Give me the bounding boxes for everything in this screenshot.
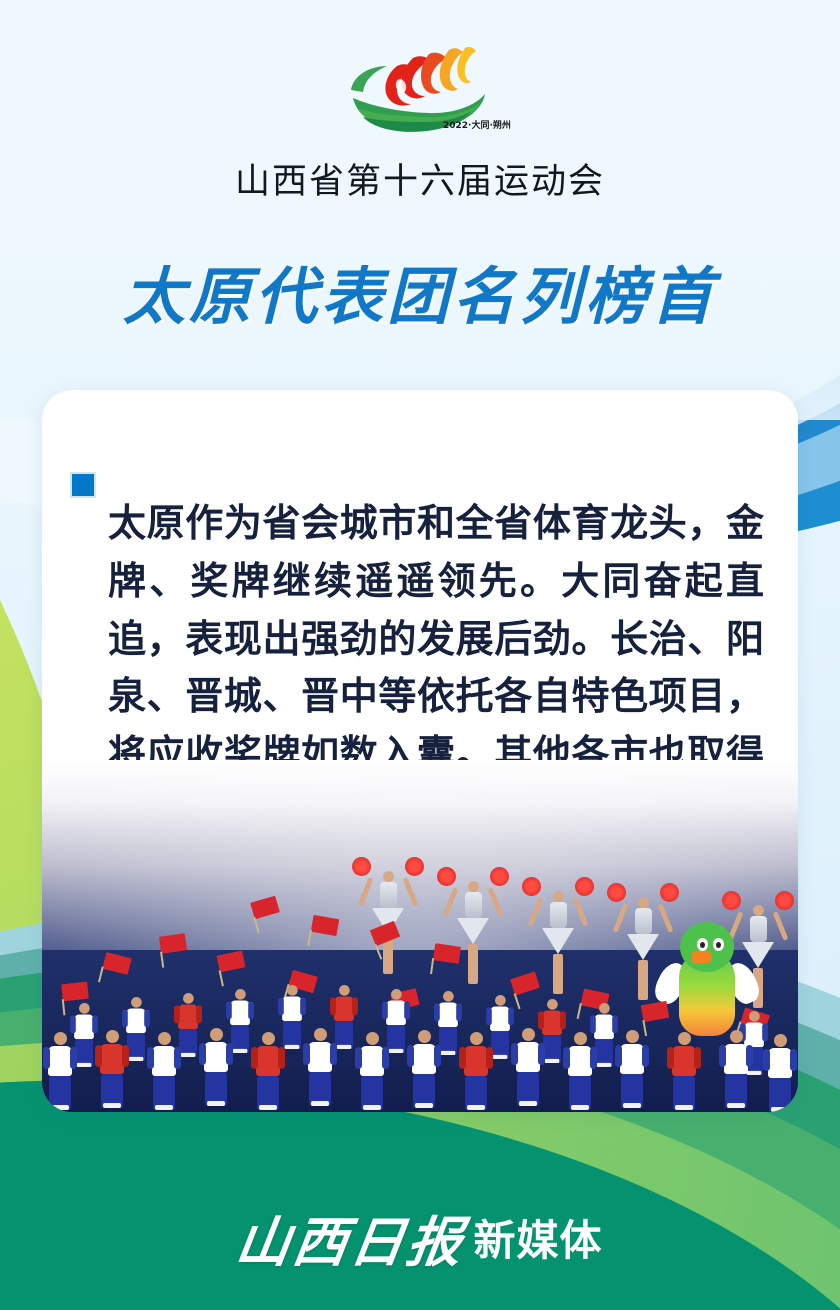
athlete-figure	[438, 991, 458, 1055]
athlete-figure	[620, 1030, 644, 1108]
red-flag	[433, 943, 461, 963]
games-emblem: 2022·大同·朔州	[325, 46, 515, 141]
athlete-figure	[768, 1034, 792, 1112]
athlete-figure	[100, 1030, 124, 1108]
athlete-figure	[594, 1003, 614, 1067]
mascot-head	[680, 922, 734, 972]
athlete-figure	[568, 1032, 592, 1110]
athlete-figure	[256, 1032, 280, 1110]
event-subtitle: 山西省第十六届运动会	[0, 153, 840, 204]
mascot-beak	[692, 951, 712, 963]
ceremony-photo	[42, 760, 798, 1112]
shanxi-games-emblem-icon: 2022·大同·朔州	[325, 46, 515, 141]
red-flag	[61, 982, 89, 1002]
content-card: 太原作为省会城市和全省体育龙头，金牌、奖牌继续遥遥领先。大同奋起直追，表现出强劲…	[42, 390, 798, 1112]
athlete-figure	[308, 1028, 332, 1106]
athlete-figure	[178, 993, 198, 1057]
page-title: 太原代表团名列榜首	[0, 246, 840, 336]
cheerleader	[627, 897, 659, 1000]
athlete-figure	[48, 1032, 72, 1110]
athlete-figure	[412, 1030, 436, 1108]
cheer-head	[383, 871, 394, 882]
athlete-figure	[152, 1032, 176, 1110]
mascot-eye-right	[713, 938, 724, 951]
athlete-figure	[360, 1032, 384, 1110]
blue-square-bullet-icon	[72, 474, 94, 496]
athlete-figure	[490, 995, 510, 1059]
athlete-figure	[464, 1032, 488, 1110]
pompom-right	[405, 857, 424, 876]
athlete-figure	[386, 989, 406, 1053]
mascot-eye-left	[697, 938, 708, 951]
poster-footer: 山西日报新媒体	[0, 1198, 840, 1277]
athlete-figure	[126, 997, 146, 1061]
athlete-figure	[516, 1028, 540, 1106]
athlete-figure	[542, 999, 562, 1063]
red-flag	[159, 933, 187, 953]
publisher-logo: 山西日报	[232, 1198, 471, 1277]
athlete-figure	[672, 1032, 696, 1110]
poster-root: 2022·大同·朔州 山西省第十六届运动会 太原代表团名列榜首 太原作为省会城市…	[0, 0, 840, 1310]
athlete-figure	[204, 1028, 228, 1106]
athlete-figure	[230, 989, 250, 1053]
athlete-figure	[282, 985, 302, 1049]
publisher-subbrand: 新媒体	[473, 1207, 602, 1268]
athlete-figure	[724, 1030, 748, 1108]
cheerleader	[542, 891, 574, 994]
athlete-figure	[74, 1003, 94, 1067]
poster-header: 2022·大同·朔州 山西省第十六届运动会 太原代表团名列榜首	[0, 0, 840, 336]
cheerleader	[457, 881, 489, 984]
athlete-figure	[334, 985, 354, 1049]
svg-text:2022·大同·朔州: 2022·大同·朔州	[443, 119, 511, 131]
cheer-body	[380, 882, 397, 908]
pompom-left	[352, 857, 371, 876]
